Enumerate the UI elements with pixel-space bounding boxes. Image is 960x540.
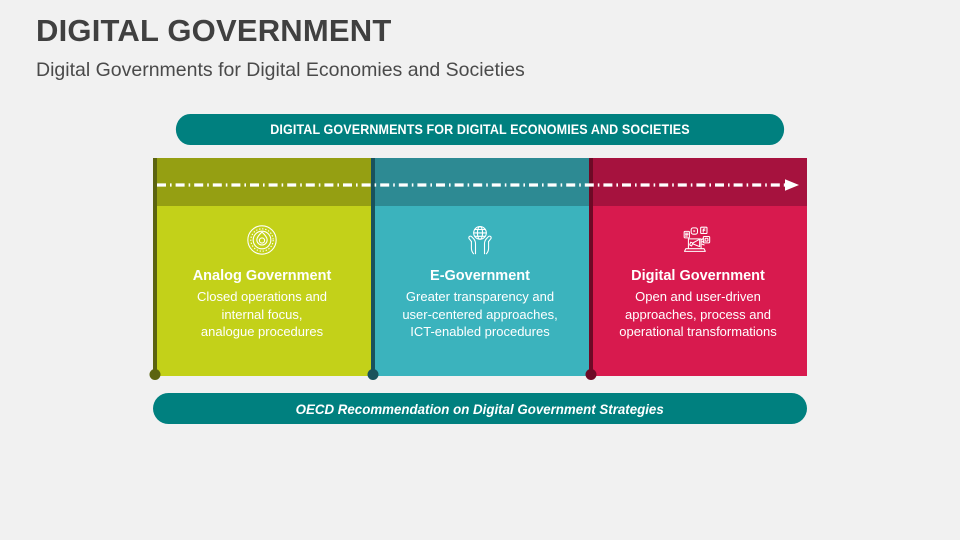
stage-top-band [589, 158, 807, 206]
diagram-top-banner: DIGITAL GOVERNMENTS FOR DIGITAL ECONOMIE… [176, 114, 784, 145]
stage-column-e-government[interactable]: E-Government Greater transparency and us… [371, 158, 589, 376]
diagram-bottom-banner: OECD Recommendation on Digital Governmen… [153, 393, 807, 424]
hands-globe-icon [460, 220, 500, 260]
stage-divider-dot [368, 369, 379, 380]
stage-divider-rail-left [153, 158, 157, 376]
stage-heading: E-Government [430, 268, 530, 285]
diagram-top-banner-text: DIGITAL GOVERNMENTS FOR DIGITAL ECONOMIE… [270, 122, 689, 137]
stage-description: Open and user-driven approaches, process… [613, 288, 783, 340]
stage-divider-dot [150, 369, 161, 380]
stage-heading: Analog Government [193, 268, 332, 285]
stage-divider-rail-right [589, 158, 593, 376]
stage-body: Digital Government Open and user-driven … [589, 206, 807, 376]
laptop-megaphone-social-icon [678, 220, 718, 260]
stage-top-band [153, 158, 371, 206]
diagram-bottom-banner-text: OECD Recommendation on Digital Governmen… [296, 401, 664, 417]
stage-description: Greater transparency and user-centered a… [396, 288, 563, 340]
slide-header: DIGITAL GOVERNMENT Digital Governments f… [36, 14, 916, 82]
page-title: DIGITAL GOVERNMENT [36, 14, 916, 48]
maturity-diagram: DIGITAL GOVERNMENTS FOR DIGITAL ECONOMIE… [153, 114, 807, 424]
stage-top-band [371, 158, 589, 206]
stage-column-analog-government[interactable]: Analog Government Closed operations and … [153, 158, 371, 376]
stage-body: E-Government Greater transparency and us… [371, 206, 589, 376]
stage-column-digital-government[interactable]: Digital Government Open and user-driven … [589, 158, 807, 376]
stage-columns: Analog Government Closed operations and … [153, 158, 807, 376]
page-subtitle: Digital Governments for Digital Economie… [36, 60, 916, 81]
stage-heading: Digital Government [631, 268, 765, 285]
vault-dial-icon [242, 220, 282, 260]
stage-divider-dot [586, 369, 597, 380]
stage-body: Analog Government Closed operations and … [153, 206, 371, 376]
stage-divider-rail-middle [371, 158, 375, 376]
stage-description: Closed operations and internal focus, an… [191, 288, 333, 340]
